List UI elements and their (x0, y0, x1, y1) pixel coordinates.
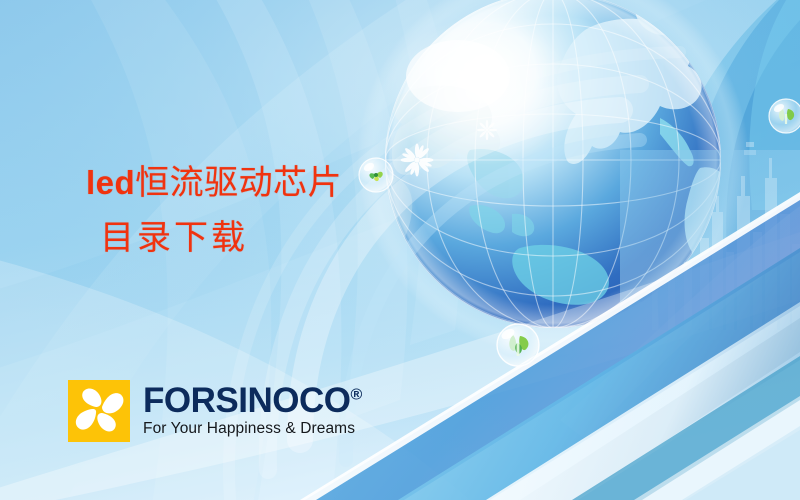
headline-latin: led (86, 164, 135, 201)
headline-line-2: 目录下载 (100, 216, 342, 263)
four-petal-pinwheel-mark (68, 380, 130, 442)
company-logo: FORSINOCO® For Your Happiness & Dreams (68, 380, 362, 442)
logo-wordmark: FORSINOCO® (143, 384, 362, 418)
headline-line-1: led恒流驱动芯片 (86, 160, 342, 208)
logo-wordmark-text: FORSINOCO (143, 381, 350, 420)
eco-bubble-left (359, 158, 393, 192)
registered-trademark-icon: ® (350, 386, 362, 403)
eco-bubble-center (497, 324, 539, 366)
banner-canvas: led恒流驱动芯片 目录下载 FORSINOCO® For Your Happ (0, 0, 800, 500)
headline-cjk: 恒流驱动芯片 (135, 165, 342, 202)
headline-text: led恒流驱动芯片 目录下载 (86, 160, 342, 263)
eco-bubble-right (769, 99, 800, 133)
logo-tagline: For Your Happiness & Dreams (143, 420, 362, 439)
logo-text-block: FORSINOCO® For Your Happiness & Dreams (143, 384, 362, 438)
